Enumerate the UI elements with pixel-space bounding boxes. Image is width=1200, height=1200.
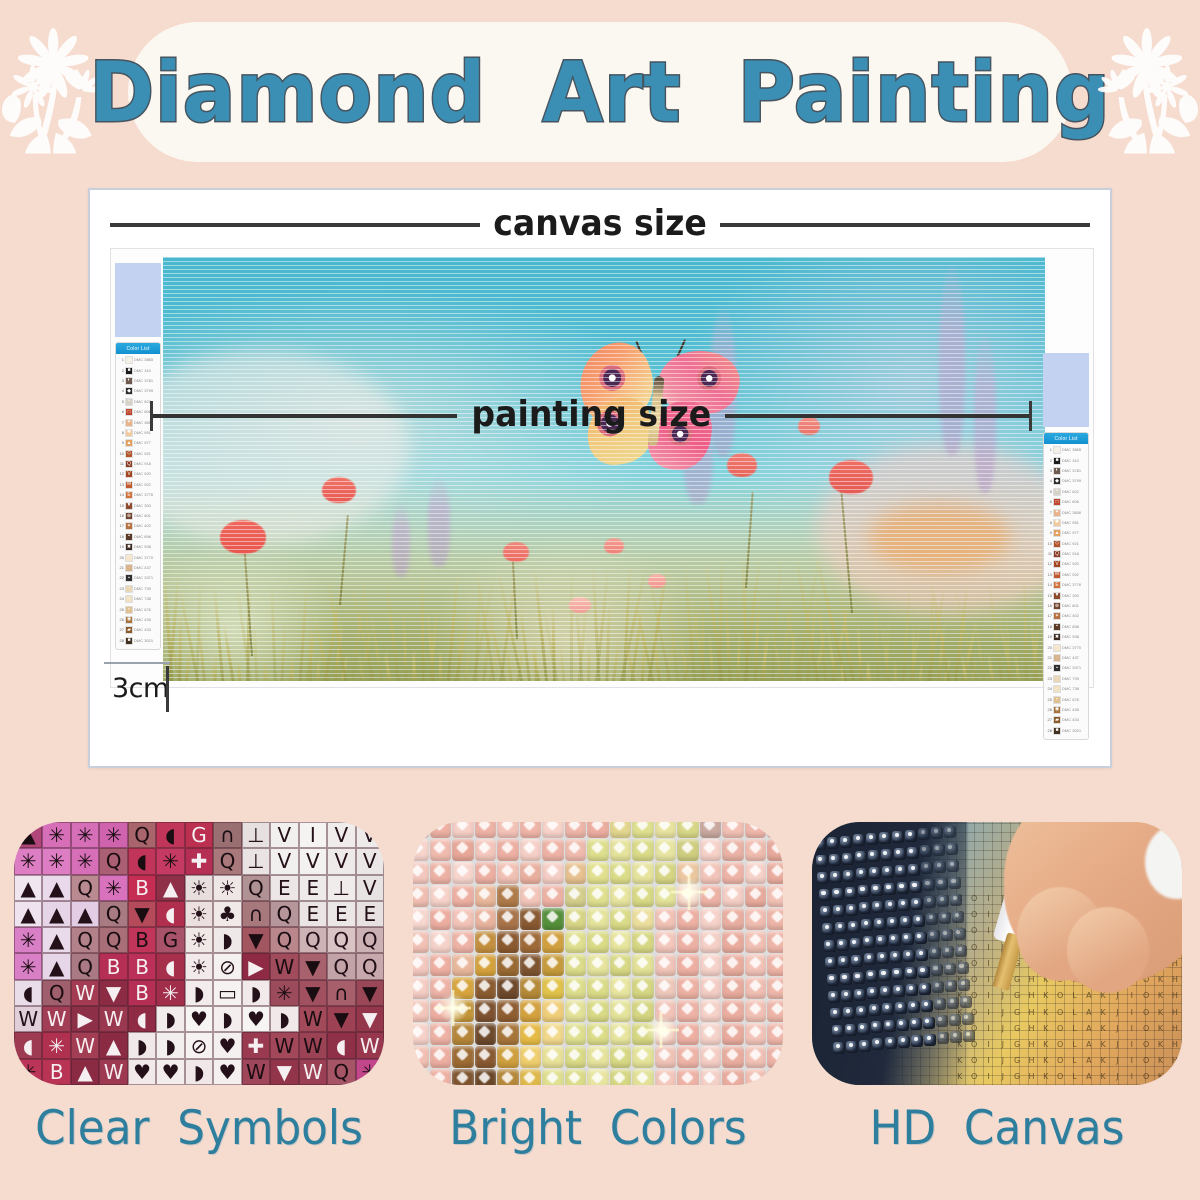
diamond-bead (655, 885, 677, 907)
placed-bead (861, 919, 873, 931)
placed-bead (814, 838, 826, 850)
diamond-bead (767, 954, 783, 976)
canvas-symbol-letter: K (1153, 1036, 1167, 1052)
diamond-bead (767, 1069, 783, 1085)
diamond-bead (700, 885, 722, 907)
diamond-bead (610, 1023, 632, 1045)
legend-color-swatch: ■ (1053, 457, 1061, 465)
canvas-symbol-letter: O (967, 1053, 981, 1069)
diamond-bead (542, 908, 564, 930)
canvas-symbol-letter: I (1125, 1004, 1139, 1020)
symbol-cell: V (327, 822, 355, 848)
grass-blade (918, 660, 924, 681)
legend-row-code: DMC 3770 (1062, 646, 1086, 650)
placed-bead (924, 896, 936, 908)
symbol-cell: ⊘ (185, 1032, 213, 1058)
symbol-cell: ✳ (71, 848, 99, 874)
placed-bead (937, 1032, 949, 1044)
legend-row-number: 24 (118, 597, 124, 601)
diamond-bead (700, 977, 722, 999)
legend-row-number: 1 (118, 358, 124, 362)
canvas-symbol-letter: L (1067, 1053, 1081, 1069)
margin-size-label: 3cm (112, 673, 169, 704)
placed-bead (923, 879, 935, 891)
symbol-cell: ▼ (99, 980, 127, 1006)
diamond-bead (497, 839, 519, 861)
diamond-bead (677, 822, 699, 838)
symbol-cell: ▭ (213, 980, 241, 1006)
placed-bead (853, 834, 865, 846)
placed-bead (952, 911, 964, 923)
legend-row-code: DMC 3865 (1062, 448, 1086, 452)
diamond-bead (565, 822, 587, 838)
placed-bead (884, 883, 896, 895)
placed-bead (954, 928, 966, 940)
diamond-bead (767, 822, 783, 838)
canvas-symbol-letter: K (1039, 1036, 1053, 1052)
legend-row-code: DMC 3371 (1062, 666, 1086, 670)
diamond-bead (520, 862, 542, 884)
legend-row-number: 3 (1046, 469, 1052, 473)
feature-caption-bright-colors: Bright Colors (426, 1101, 770, 1156)
symbol-cell: ◖ (156, 953, 184, 979)
diamond-bead (475, 839, 497, 861)
placed-bead (871, 884, 883, 896)
symbol-cell: V (270, 822, 298, 848)
symbol-cell: B (99, 953, 127, 979)
canvas-symbol-letter: K (1039, 1053, 1053, 1069)
placed-bead (905, 967, 917, 979)
feature-panels: ▲✳✳✳Q◖G∩⊥VIVV✳✳✳Q◖✳✚Q⊥VVVV▲▲Q✳B▲☀☀QEE⊥V▲… (0, 822, 1200, 1200)
symbol-cell: ▼ (356, 980, 384, 1006)
symbol-cell: ✳ (156, 980, 184, 1006)
diamond-bead (413, 862, 429, 884)
diamond-bead (700, 839, 722, 861)
symbol-cell: ▲ (156, 875, 184, 901)
symbol-cell: V (356, 848, 384, 874)
diamond-bead (430, 1046, 452, 1068)
header: Diamond Art Painting (0, 0, 1200, 175)
legend-row-number: 17 (1046, 614, 1052, 618)
diamond-bead (655, 862, 677, 884)
diamond-bead (745, 1046, 767, 1068)
legend-color-swatch: V (125, 470, 133, 478)
legend-row-code: DMC 938 (1062, 635, 1086, 639)
placed-bead (843, 870, 855, 882)
canvas-symbol-letter: H (1168, 1004, 1182, 1020)
symbol-cell: ▶ (242, 953, 270, 979)
diamond-bead (632, 1000, 654, 1022)
placed-bead (928, 930, 940, 942)
diamond-bead (610, 1046, 632, 1068)
canvas-symbol-letter: K (1039, 1004, 1053, 1020)
placed-bead (944, 963, 956, 975)
feature-clear-symbols: ▲✳✳✳Q◖G∩⊥VIVV✳✳✳Q◖✳✚Q⊥VVVV▲▲Q✳B▲☀☀QEE⊥V▲… (14, 822, 384, 1156)
grass-blade (213, 652, 218, 681)
size-diagram-inner: canvas size Color List 1○DMC 38652■DMC 3… (96, 196, 1104, 760)
diamond-bead (475, 885, 497, 907)
canvas-symbol-letter: O (1139, 988, 1153, 1004)
legend-row-code: DMC 918 (1062, 552, 1086, 556)
canvas-symbol-letter: A (1082, 1036, 1096, 1052)
diamond-bead (413, 822, 429, 838)
canvas-symbol-letter: O (1139, 1053, 1153, 1069)
symbol-cell: Q (327, 1059, 355, 1085)
placed-bead (893, 985, 905, 997)
diamond-bead (413, 977, 429, 999)
color-legend-right: Color List 1○DMC 38652■DMC 3103◐DMC 3781… (1043, 353, 1089, 740)
diamond-bead (722, 977, 744, 999)
legend-color-swatch: · (125, 585, 133, 593)
hd-canvas-scene: KOIJGHKOLAKJIOKHKOIJGHKOLAKJIOKHKOIJGHKO… (812, 822, 1182, 1085)
legend-row: 13WDMC 922 (1046, 570, 1086, 580)
diamond-bead (632, 954, 654, 976)
diamond-bead (655, 822, 677, 838)
diamond-bead (475, 1069, 497, 1085)
canvas-symbol-letter: A (1082, 1004, 1096, 1020)
legend-row-number: 23 (1046, 677, 1052, 681)
legend-header-right: Color List (1044, 433, 1088, 444)
placed-bead (926, 913, 938, 925)
symbol-cell: Q (99, 848, 127, 874)
diamond-bead (430, 839, 452, 861)
legend-color-swatch: E (1053, 581, 1061, 589)
hd-canvas-thumbnail: KOIJGHKOLAKJIOKHKOIJGHKOLAKJIOKHKOIJGHKO… (812, 822, 1182, 1085)
symbol-cell: ▲ (71, 1059, 99, 1085)
diamond-bead (745, 931, 767, 953)
placed-bead (894, 848, 906, 860)
placed-bead (898, 1036, 910, 1048)
diamond-bead (722, 862, 744, 884)
diamond-bead (520, 1000, 542, 1022)
diamond-bead (700, 931, 722, 953)
diamond-bead (632, 977, 654, 999)
legend-row-number: 27 (1046, 718, 1052, 722)
legend-row: 8✱DMC 951 (1046, 518, 1086, 528)
symbol-cell: W (299, 1006, 327, 1032)
symbol-cell: W (270, 953, 298, 979)
placed-bead (827, 837, 839, 849)
canvas-symbol-letter: K (1153, 1069, 1167, 1085)
symbol-cell: W (42, 1006, 70, 1032)
placed-bead (859, 1040, 871, 1052)
legend-color-swatch: ▰ (1053, 716, 1061, 724)
grass-blade (708, 636, 715, 681)
placed-bead (931, 827, 943, 839)
placed-bead (825, 957, 837, 969)
symbol-cell: ▼ (299, 980, 327, 1006)
canvas-symbol-letter: H (1024, 1020, 1038, 1036)
symbol-cell: Q (327, 927, 355, 953)
grass-blade (439, 651, 442, 681)
canvas-symbol-letter: H (1168, 1020, 1182, 1036)
symbol-cell: B (128, 875, 156, 901)
placed-bead (934, 861, 946, 873)
symbol-cell: ▲ (42, 901, 70, 927)
symbol-cell: W (99, 1059, 127, 1085)
placed-bead (885, 900, 897, 912)
diamond-bead (520, 839, 542, 861)
diamond-bead (542, 839, 564, 861)
placed-bead (936, 1015, 948, 1027)
legend-row: 10◇DMC 921 (1046, 539, 1086, 549)
placed-bead (890, 951, 902, 963)
legend-color-swatch: ▲ (1053, 529, 1061, 537)
legend-rows-right: 1○DMC 38652■DMC 3103◐DMC 37814◆DMC 37995… (1044, 444, 1088, 736)
symbol-cell: W (270, 1032, 298, 1058)
legend-row-number: 3 (118, 379, 124, 383)
diamond-bead (413, 1023, 429, 1045)
placed-bead (871, 1021, 883, 1033)
placed-bead (897, 1019, 909, 1031)
diamond-bead (497, 954, 519, 976)
symbol-cell: B (128, 927, 156, 953)
diamond-bead (655, 1069, 677, 1085)
canvas-symbol-letter: H (1168, 1053, 1182, 1069)
placed-bead (915, 932, 927, 944)
placed-bead (958, 979, 970, 991)
legend-row-code: DMC 801 (1062, 604, 1086, 608)
diamond-bead (587, 1023, 609, 1045)
diamond-bead (610, 839, 632, 861)
placed-bead (885, 1037, 897, 1049)
diamond-bead (565, 839, 587, 861)
placed-bead (816, 855, 828, 867)
diamond-bead (587, 908, 609, 930)
legend-color-swatch: ■ (125, 367, 133, 375)
canvas-symbol-letter: A (1082, 1053, 1096, 1069)
placed-bead (957, 962, 969, 974)
diamond-bead (430, 822, 452, 838)
legend-color-swatch: ✖ (1053, 633, 1061, 641)
canvas-symbol-letter: O (967, 939, 981, 955)
diamond-bead (475, 1023, 497, 1045)
diamond-bead (722, 839, 744, 861)
diamond-bead (413, 839, 429, 861)
placed-bead (876, 935, 888, 947)
diamond-bead (677, 839, 699, 861)
symbol-cell: ✳ (156, 848, 184, 874)
diamond-bead (587, 1046, 609, 1068)
symbol-cell: E (299, 901, 327, 927)
legend-row-number: 17 (118, 524, 124, 528)
placed-bead (846, 904, 858, 916)
canvas-symbol-letter: K (1153, 988, 1167, 1004)
diamond-bead (565, 954, 587, 976)
symbol-cell: Q (71, 875, 99, 901)
placed-bead (827, 974, 839, 986)
legend-color-swatch: ◌ (1053, 644, 1061, 652)
diamond-bead (452, 1000, 474, 1022)
diamond-bead (452, 931, 474, 953)
diamond-bead (542, 1069, 564, 1085)
diamond-bead (767, 1000, 783, 1022)
legend-row-number: 9 (1046, 531, 1052, 535)
grass-blade (894, 662, 897, 681)
symbol-cell: Q (299, 927, 327, 953)
placed-bead (898, 899, 910, 911)
diamond-bead (632, 822, 654, 838)
diamond-bead (565, 1046, 587, 1068)
placed-bead (887, 917, 899, 929)
placed-bead (895, 865, 907, 877)
diamond-bead (565, 1023, 587, 1045)
diamond-bead (565, 862, 587, 884)
diamond-bead (655, 1000, 677, 1022)
symbol-cell: V (299, 848, 327, 874)
legend-row: 14EDMC 3776 (1046, 580, 1086, 590)
diamond-bead (700, 908, 722, 930)
legend-row-code: DMC 310 (1062, 459, 1086, 463)
diamond-bead (452, 839, 474, 861)
diamond-bead (475, 931, 497, 953)
legend-row: 25∘DMC 676 (1046, 694, 1086, 704)
legend-row-number: 10 (118, 452, 124, 456)
canvas-symbol-letter: J (996, 1020, 1010, 1036)
placed-bead (866, 970, 878, 982)
symbol-cell: ♥ (213, 1032, 241, 1058)
legend-row-number: 26 (118, 618, 124, 622)
placed-bead (842, 853, 854, 865)
legend-color-swatch: E (125, 491, 133, 499)
legend-row-code: DMC 921 (1062, 542, 1086, 546)
legend-color-swatch: · (1053, 675, 1061, 683)
canvas-symbol-letter: O (1053, 1020, 1067, 1036)
placed-bead (910, 1018, 922, 1030)
size-diagram-card: canvas size Color List 1○DMC 38652■DMC 3… (88, 188, 1112, 768)
legend-row-number: 23 (118, 587, 124, 591)
placed-bead (918, 966, 930, 978)
legend-row-code: DMC 951 (1062, 521, 1086, 525)
diamond-bead (413, 908, 429, 930)
legend-color-swatch: ◉ (125, 616, 133, 624)
diamond-bead (655, 1023, 677, 1045)
dimension-line-right (725, 414, 1029, 418)
symbol-cell: Q (99, 927, 127, 953)
legend-row: 17✶DMC 402 (1046, 611, 1086, 621)
painting-size-dimension: painting size (150, 204, 1032, 628)
symbol-cell: Q (42, 980, 70, 1006)
symbol-cell: Q (213, 848, 241, 874)
canvas-symbol-letter: O (1139, 1036, 1153, 1052)
diamond-bead (475, 977, 497, 999)
diamond-bead (610, 931, 632, 953)
legend-color-swatch: ◆ (1053, 477, 1061, 485)
diamond-bead (413, 1069, 429, 1085)
placed-bead (820, 906, 832, 918)
legend-row: 11QDMC 918 (1046, 549, 1086, 559)
symbol-cell: ✳ (99, 822, 127, 848)
diamond-bead (520, 885, 542, 907)
legend-row-code: DMC 977 (1062, 531, 1086, 535)
symbol-cell: ✳ (14, 953, 42, 979)
diamond-bead (767, 977, 783, 999)
legend-row-number: 8 (1046, 521, 1052, 525)
legend-row-number: 15 (1046, 594, 1052, 598)
placed-bead (924, 1034, 936, 1046)
canvas-symbol-letter: A (1082, 1069, 1096, 1085)
grass-blade (736, 633, 741, 681)
diamond-bead (700, 1069, 722, 1085)
legend-row: 9▲DMC 977 (1046, 528, 1086, 538)
canvas-symbol-letter: J (1110, 1053, 1124, 1069)
legend-row: 24◦DMC 738 (1046, 684, 1086, 694)
canvas-symbol-letter: J (1110, 1004, 1124, 1020)
diamond-bead (565, 977, 587, 999)
legend-color-swatch: ⊕ (1053, 602, 1061, 610)
placed-bead (920, 845, 932, 857)
diamond-bead (587, 822, 609, 838)
canvas-symbol-letter: I (981, 907, 995, 923)
legend-row-number: 24 (1046, 687, 1052, 691)
canvas-symbol-letter: O (1053, 1053, 1067, 1069)
diamond-bead (430, 1069, 452, 1085)
diamond-bead (700, 1023, 722, 1045)
diamond-bead (565, 931, 587, 953)
diamond-bead (745, 977, 767, 999)
legend-row: 1○DMC 3865 (1046, 445, 1086, 455)
placed-bead (881, 849, 893, 861)
grass-blade (223, 627, 236, 681)
diamond-bead (430, 862, 452, 884)
diamond-bead (700, 822, 722, 838)
diamond-bead (632, 908, 654, 930)
legend-color-swatch: ✱ (1053, 519, 1061, 527)
symbol-cell: ◗ (213, 927, 241, 953)
legend-row: 4◆DMC 3799 (1046, 476, 1086, 486)
canvas-symbol-letter: O (1053, 1069, 1067, 1085)
diamond-bead (430, 1000, 452, 1022)
legend-row-code: DMC 676 (1062, 698, 1086, 702)
symbol-cell: E (356, 901, 384, 927)
legend-row-number: 27 (118, 628, 124, 632)
symbol-cell: ✳ (14, 848, 42, 874)
placed-bead (905, 830, 917, 842)
canvas-symbol-letter: K (1153, 1020, 1167, 1036)
symbol-cell: ▲ (42, 875, 70, 901)
placed-bead (843, 1007, 855, 1019)
diamond-bead (542, 977, 564, 999)
diamond-bead (655, 954, 677, 976)
canvas-symbol-letter: H (1024, 1004, 1038, 1020)
placed-bead (908, 864, 920, 876)
diamond-bead (587, 977, 609, 999)
diamond-bead (497, 822, 519, 838)
diamond-bead (610, 1069, 632, 1085)
legend-color-swatch: ○ (1053, 446, 1061, 454)
canvas-symbol-letter: L (1067, 1036, 1081, 1052)
symbol-cell: Q (242, 875, 270, 901)
legend-row-code: DMC 922 (1062, 573, 1086, 577)
grass-blade (856, 626, 862, 681)
canvas-symbol-letter: O (1053, 988, 1067, 1004)
canvas-symbol-letter: J (996, 1069, 1010, 1085)
legend-color-swatch: ∘ (125, 606, 133, 614)
diamond-bead (542, 885, 564, 907)
symbol-cell: ◗ (242, 980, 270, 1006)
legend-color-swatch: ⊕ (125, 512, 133, 520)
placed-bead (942, 946, 954, 958)
diamond-bead (475, 1046, 497, 1068)
diamond-bead (497, 862, 519, 884)
legend-color-swatch: ✶ (125, 522, 133, 530)
placed-bead (934, 998, 946, 1010)
legend-row-code: DMC 300 (1062, 594, 1086, 598)
diamond-bead (700, 954, 722, 976)
diamond-bead (677, 1023, 699, 1045)
symbol-cell: W (242, 1059, 270, 1085)
canvas-symbol-letter: L (1067, 1004, 1081, 1020)
